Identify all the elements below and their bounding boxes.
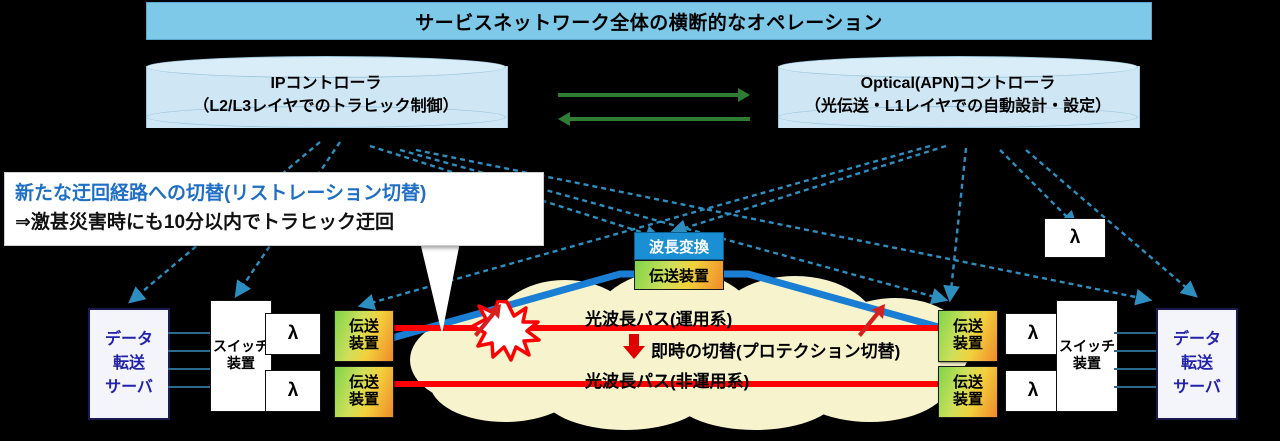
right-switch-line2: 装置 xyxy=(1058,355,1116,372)
right-lambda-bottom-label: λ xyxy=(1028,380,1039,402)
ip-controller-label: IPコントローラ （L2/L3レイヤでのトラヒック制御） xyxy=(146,72,506,118)
protection-down-arrow-icon xyxy=(622,334,646,360)
wavelength-conversion-label: 波長変換 xyxy=(649,236,709,257)
standby-lightpath-label: 光波長パス(非運用系) xyxy=(585,367,749,392)
optical-controller-line1: Optical(APN)コントローラ xyxy=(778,72,1138,95)
left-lambda-bottom[interactable]: λ xyxy=(265,370,321,412)
callout-line2: ⇒激甚災害時にも10分以内でトラヒック迂回 xyxy=(15,208,533,237)
optical-controller-label: Optical(APN)コントローラ （光伝送・L1レイヤでの自動設計・設定） xyxy=(778,72,1138,118)
left-data-transfer-server[interactable]: データ 転送 サーバ xyxy=(88,308,170,420)
left-switch-line2: 装置 xyxy=(212,355,270,372)
left-transmission-bottom[interactable]: 伝送 装置 xyxy=(334,366,394,418)
active-lightpath-label: 光波長パス(運用系) xyxy=(585,305,732,330)
left-tx-bottom-line2: 装置 xyxy=(349,392,379,409)
left-server-link xyxy=(168,332,212,334)
callout-pointer xyxy=(420,240,500,340)
left-tx-bottom-line1: 伝送 xyxy=(349,375,379,392)
left-lambda-bottom-label: λ xyxy=(288,380,299,402)
protection-switch-label: 即時の切替(プロテクション切替) xyxy=(651,337,900,362)
center-transmission-label: 伝送装置 xyxy=(649,265,709,286)
left-switch-line1: スイッチ xyxy=(212,338,270,355)
right-tx-bottom-line2: 装置 xyxy=(953,392,983,409)
right-tx-top-line1: 伝送 xyxy=(953,319,983,336)
spare-lambda-box[interactable]: λ xyxy=(1044,218,1106,258)
diagram-canvas: サービスネットワーク全体の横断的なオペレーション IP xyxy=(0,0,1280,441)
right-lambda-top[interactable]: λ xyxy=(1005,313,1061,355)
optical-controller-line2: （光伝送・L1レイヤでの自動設計・設定） xyxy=(778,95,1138,118)
left-server-line3: サーバ xyxy=(105,376,153,400)
left-lambda-top-label: λ xyxy=(288,323,299,345)
wavelength-conversion-box[interactable]: 波長変換 xyxy=(634,232,724,260)
spare-lambda-label: λ xyxy=(1070,227,1081,249)
right-transmission-bottom[interactable]: 伝送 装置 xyxy=(938,366,998,418)
ip-controller-line2: （L2/L3レイヤでのトラヒック制御） xyxy=(146,95,506,118)
right-server-link xyxy=(1114,368,1158,370)
right-tx-bottom-line1: 伝送 xyxy=(953,375,983,392)
right-switch-label: スイッチ 装置 xyxy=(1058,338,1116,372)
left-transmission-top[interactable]: 伝送 装置 xyxy=(334,310,394,362)
right-server-line2: 転送 xyxy=(1181,352,1213,376)
right-server-line3: サーバ xyxy=(1173,376,1221,400)
left-server-link xyxy=(168,386,212,388)
right-lambda-top-label: λ xyxy=(1028,323,1039,345)
left-server-link xyxy=(168,350,212,352)
left-server-line1: データ xyxy=(105,328,153,352)
left-switch-label: スイッチ 装置 xyxy=(212,338,270,372)
right-server-link xyxy=(1114,386,1158,388)
left-server-line2: 転送 xyxy=(113,352,145,376)
right-server-link xyxy=(1114,350,1158,352)
right-switch-line1: スイッチ xyxy=(1058,338,1116,355)
left-tx-top-line2: 装置 xyxy=(349,336,379,353)
right-transmission-top[interactable]: 伝送 装置 xyxy=(938,310,998,362)
restoration-callout: 新たな迂回経路への切替(リストレーション切替) ⇒激甚災害時にも10分以内でトラ… xyxy=(4,172,544,246)
right-lambda-bottom[interactable]: λ xyxy=(1005,370,1061,412)
left-lambda-top[interactable]: λ xyxy=(265,313,321,355)
right-tx-top-line2: 装置 xyxy=(953,336,983,353)
left-server-link xyxy=(168,368,212,370)
center-transmission-box[interactable]: 伝送装置 xyxy=(634,260,724,290)
ip-controller-line1: IPコントローラ xyxy=(146,72,506,95)
left-tx-top-line1: 伝送 xyxy=(349,319,379,336)
right-server-link xyxy=(1114,332,1158,334)
right-data-transfer-server[interactable]: データ 転送 サーバ xyxy=(1156,308,1238,420)
callout-line1: 新たな迂回経路への切替(リストレーション切替) xyxy=(15,179,533,208)
switch-indicator-arrow-right-icon xyxy=(856,302,892,338)
right-server-line1: データ xyxy=(1173,328,1221,352)
